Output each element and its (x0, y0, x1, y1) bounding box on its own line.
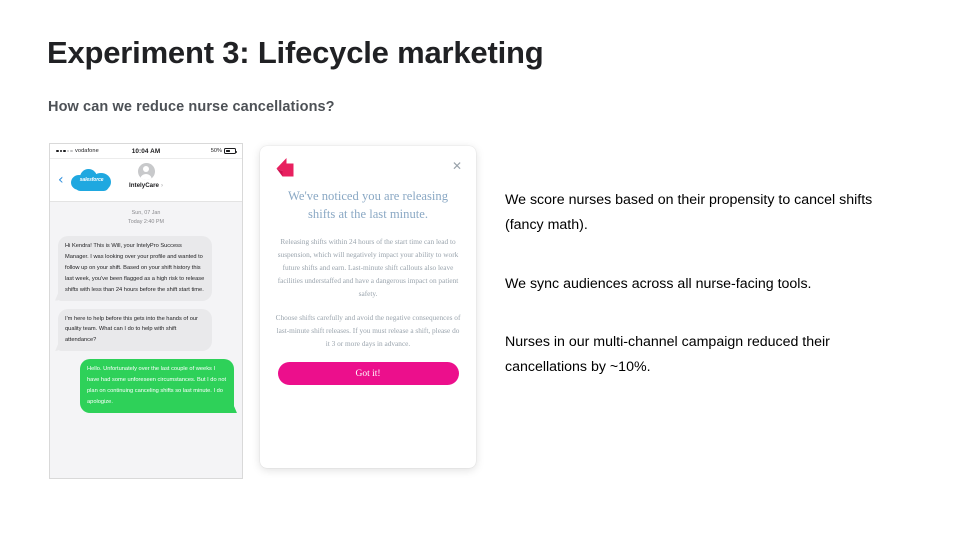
salesforce-logo: salesforce (70, 167, 114, 193)
chevron-right-icon: › (161, 183, 163, 189)
bullet-list: We score nurses based on their propensit… (505, 188, 905, 380)
in-app-modal: ✕ We've noticed you are releasing shifts… (260, 146, 476, 468)
got-it-button[interactable]: Got it! (278, 362, 459, 385)
cloud-icon: salesforce (71, 168, 113, 192)
modal-header: ✕ (274, 156, 462, 186)
contact-name-label: IntelyCare › (129, 182, 163, 189)
message-bubble-incoming: Hi Kendra! This is Will, your IntelyPro … (58, 236, 212, 301)
signal-strength-icon (56, 150, 73, 153)
close-icon[interactable]: ✕ (452, 160, 462, 172)
thread-time: Today 2:40 PM (58, 218, 234, 227)
bullet-item: We score nurses based on their propensit… (505, 188, 905, 239)
pink-arrow-logo-icon (274, 156, 296, 182)
salesforce-wordmark: salesforce (71, 177, 113, 183)
battery-icon (224, 148, 236, 154)
status-bar-left: vodafone (56, 148, 132, 154)
bullet-item: Nurses in our multi-channel campaign red… (505, 330, 905, 381)
chevron-left-icon[interactable]: ‹ (58, 173, 64, 187)
status-bar-right: 50% (160, 148, 236, 154)
phone-mockup-screenshot: vodafone 10:04 AM 50% ‹ salesforce Intel… (49, 143, 243, 479)
message-thread[interactable]: Sun, 07 Jan Today 2:40 PM Hi Kendra! Thi… (50, 202, 242, 478)
message-row: Hi Kendra! This is Will, your IntelyPro … (58, 236, 234, 301)
page-title: Experiment 3: Lifecycle marketing (47, 35, 543, 71)
status-bar-clock: 10:04 AM (132, 148, 161, 155)
message-bubble-incoming: I'm here to help before this gets into t… (58, 309, 212, 352)
phone-status-bar: vodafone 10:04 AM 50% (50, 144, 242, 159)
modal-headline: We've noticed you are releasing shifts a… (278, 188, 458, 224)
bullet-item: We sync audiences across all nurse-facin… (505, 272, 905, 297)
modal-paragraph-2: Choose shifts carefully and avoid the ne… (274, 312, 462, 351)
battery-percent-label: 50% (211, 148, 222, 154)
page-subtitle: How can we reduce nurse cancellations? (48, 99, 335, 115)
message-row: Hello. Unfortunately over the last coupl… (58, 359, 234, 413)
phone-nav-bar: ‹ salesforce IntelyCare › (50, 159, 242, 202)
thread-date: Sun, 07 Jan (58, 209, 234, 218)
avatar (138, 163, 155, 180)
thread-timestamp: Sun, 07 Jan Today 2:40 PM (58, 209, 234, 227)
message-row: I'm here to help before this gets into t… (58, 309, 234, 352)
message-bubble-outgoing: Hello. Unfortunately over the last coupl… (80, 359, 234, 413)
modal-paragraph-1: Releasing shifts within 24 hours of the … (274, 236, 462, 301)
carrier-label: vodafone (75, 148, 99, 154)
contact-name-text: IntelyCare (129, 182, 159, 189)
